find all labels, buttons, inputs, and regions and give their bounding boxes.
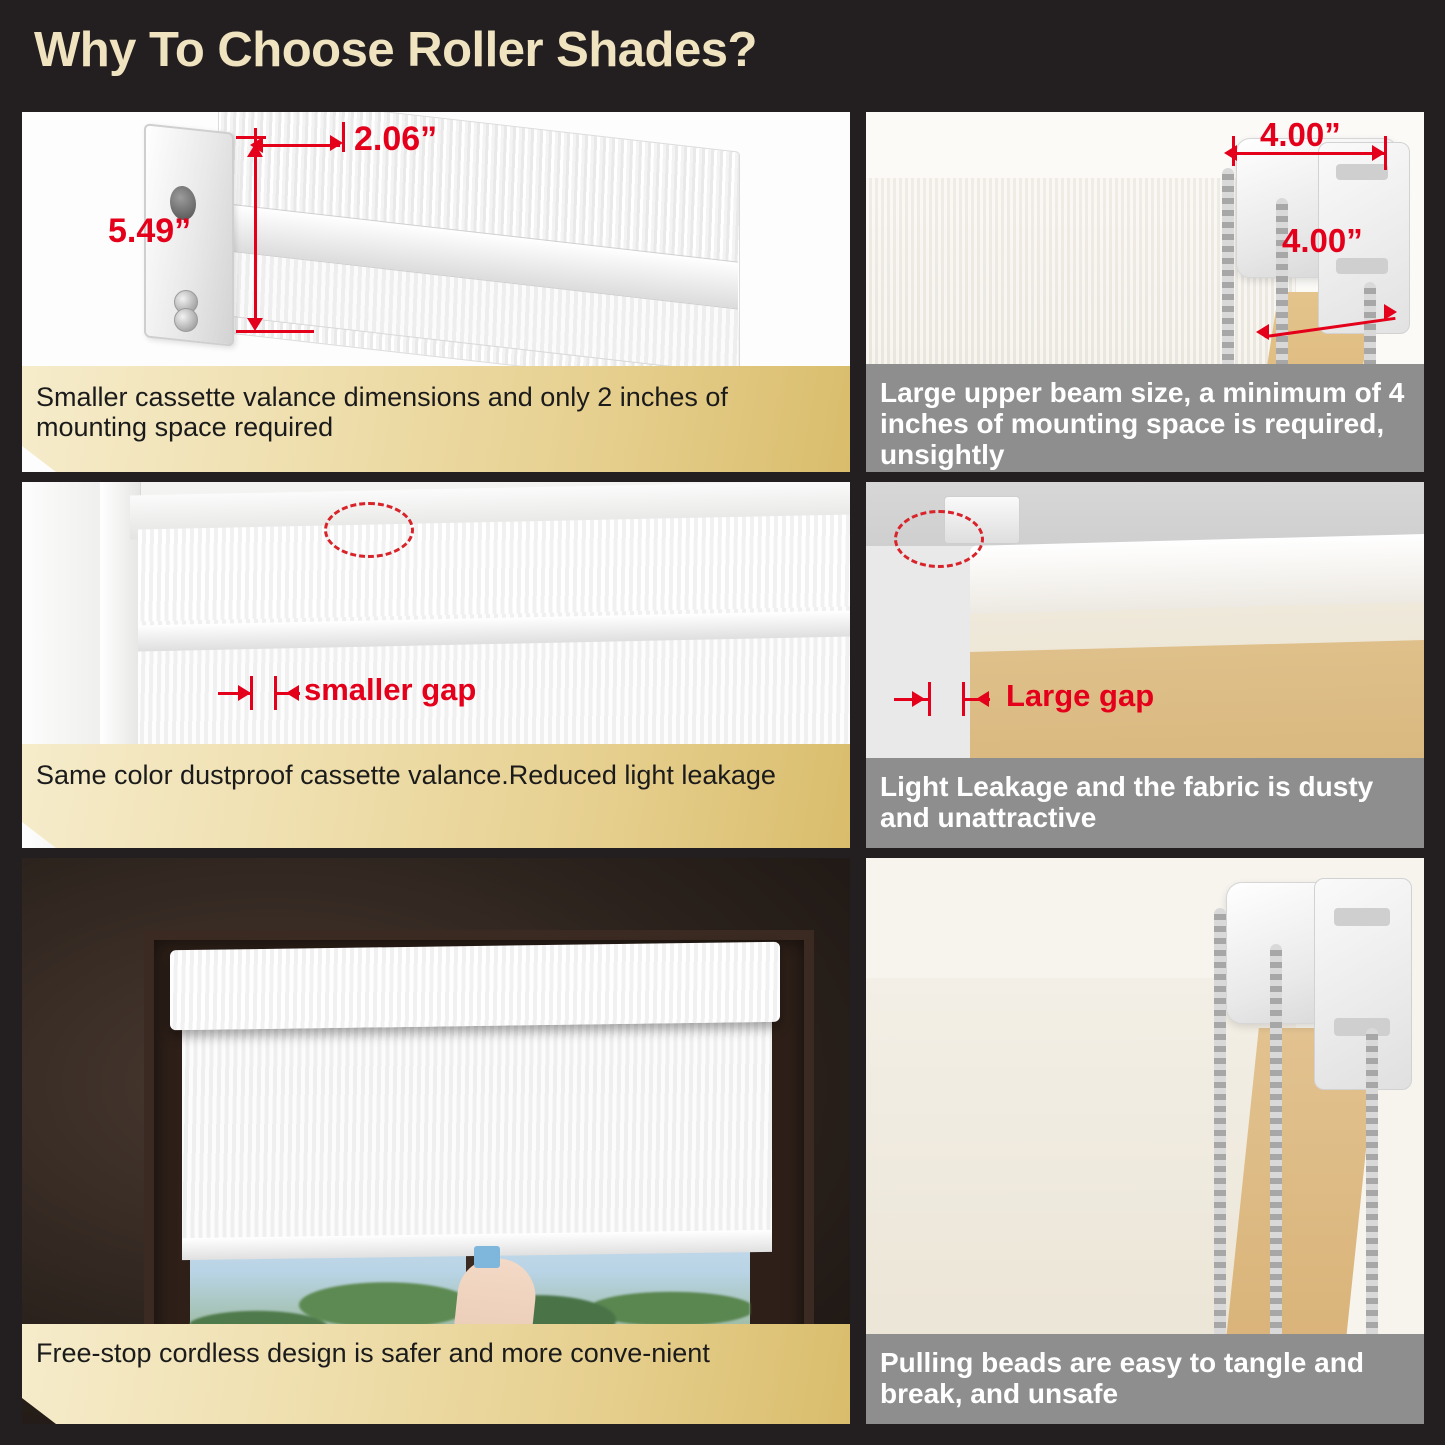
dim-label-beam-depth: 4.00” — [1282, 222, 1363, 260]
panel-pulling-beads-caption: Pulling beads are easy to tangle and bre… — [866, 1334, 1424, 1424]
panel-large-upper-beam: 4.00” 4.00” Large upper beam size, a min… — [866, 112, 1424, 472]
panel-cassette-valance-caption: Smaller cassette valance dimensions and … — [22, 366, 850, 472]
bead-chain-third — [1366, 1028, 1378, 1344]
gap-arrow-right-icon — [912, 691, 925, 707]
panel-cordless-design: Free-stop cordless design is safer and m… — [22, 858, 850, 1424]
dim-line-width — [262, 144, 340, 147]
gap-label: smaller gap — [304, 672, 476, 708]
dim-tick-right — [1384, 136, 1387, 170]
infographic-page: Why To Choose Roller Shades? 2.06” — [0, 0, 1445, 1445]
gap-highlight-ellipse — [894, 510, 984, 568]
panel-light-leakage: Large gap Light Leakage and the fabric i… — [866, 482, 1424, 848]
panel-large-upper-beam-caption: Large upper beam size, a minimum of 4 in… — [866, 364, 1424, 472]
dim-label-width: 2.06” — [354, 120, 437, 159]
gap-tick-left — [928, 682, 931, 716]
dim-arrow-right-icon-2 — [1384, 304, 1397, 320]
panel-cordless-design-caption: Free-stop cordless design is safer and m… — [22, 1324, 850, 1424]
pull-tab — [474, 1246, 500, 1268]
dim-label-height: 5.49” — [108, 212, 191, 251]
gap-highlight-ellipse — [324, 502, 414, 558]
dim-arrow-left-icon-2 — [1256, 324, 1269, 340]
gap-arrow-left-icon — [976, 691, 989, 707]
gap-arrow-right-icon — [238, 685, 251, 701]
panel-pulling-beads: Pulling beads are easy to tangle and bre… — [866, 858, 1424, 1424]
bead-chain-left — [1214, 908, 1226, 1338]
bracket-slot-bottom — [1334, 1018, 1390, 1036]
dim-tick-top — [236, 136, 266, 139]
dim-arrow-right-icon — [330, 135, 343, 151]
dim-arrow-up-icon — [247, 144, 263, 157]
panel-cassette-valance: 2.06” 5.49” Smaller cassette valance dim… — [22, 112, 850, 472]
gap-label: Large gap — [1006, 678, 1154, 714]
panel-dustproof-valance: smaller gap Same color dustproof cassett… — [22, 482, 850, 848]
bracket-slot-top — [1334, 908, 1390, 926]
dim-arrow-left-icon — [1224, 145, 1237, 161]
panel-dustproof-valance-caption: Same color dustproof cassette valance.Re… — [22, 744, 850, 848]
dim-label-beam-width: 4.00” — [1260, 116, 1341, 154]
dim-arrow-down-icon — [247, 318, 263, 331]
page-title: Why To Choose Roller Shades? — [34, 22, 757, 78]
dim-tick-left — [1232, 136, 1235, 166]
dim-line-height — [254, 156, 257, 326]
panel-light-leakage-caption: Light Leakage and the fabric is dusty an… — [866, 758, 1424, 848]
gap-arrow-left-icon — [286, 685, 299, 701]
bead-chain-right — [1270, 944, 1282, 1344]
